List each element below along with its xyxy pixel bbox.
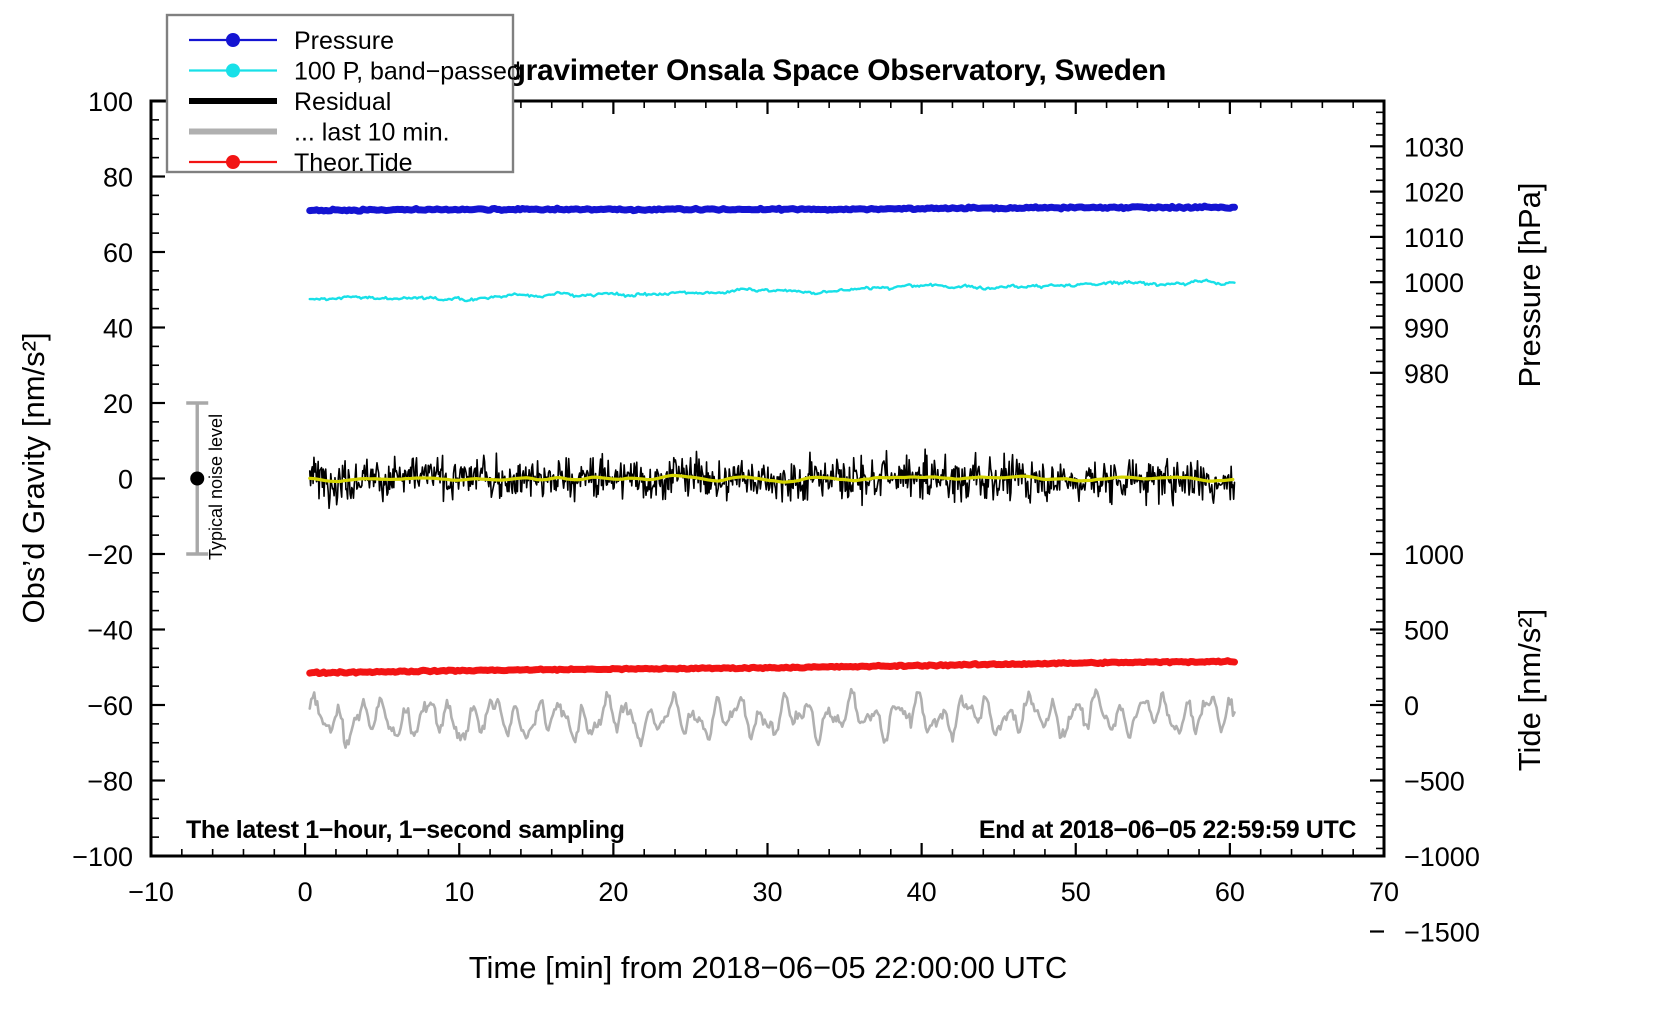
y-tick--20: −20 — [87, 540, 133, 570]
y-axis-title-left: Obs’d Gravity [nm/s²] — [16, 332, 51, 623]
x-tick--10: −10 — [128, 877, 174, 907]
x-tick-70: 70 — [1369, 877, 1399, 907]
tide-tick--1500: −1500 — [1404, 918, 1480, 948]
x-tick-0: 0 — [298, 877, 313, 907]
y-tick-80: 80 — [103, 163, 133, 193]
footer-note-left: The latest 1−hour, 1−second sampling — [186, 816, 625, 844]
x-axis-ticks: −10010203040506070 — [128, 101, 1399, 907]
y-axis-title-tide: Tide [nm/s²] — [1512, 609, 1547, 772]
pressure-tick-1030: 1030 — [1404, 132, 1464, 162]
tide-tick-500: 500 — [1404, 616, 1449, 646]
x-tick-30: 30 — [752, 877, 782, 907]
y-tick-40: 40 — [103, 314, 133, 344]
y-tick-20: 20 — [103, 389, 133, 419]
series-last-10-min — [310, 689, 1235, 748]
legend-swatch-marker — [226, 155, 240, 169]
pressure-tick-990: 990 — [1404, 314, 1449, 344]
noise-level-label: Typical noise level — [206, 414, 226, 560]
legend-swatch-marker — [226, 64, 240, 78]
tide-tick--500: −500 — [1404, 767, 1465, 797]
series-layer — [310, 206, 1235, 748]
legend-item-label: 100 P, band−passed — [294, 58, 521, 86]
x-tick-10: 10 — [444, 877, 474, 907]
noise-annotation: Typical noise level — [186, 403, 226, 560]
y-tick-60: 60 — [103, 238, 133, 268]
series-theor-tide — [310, 661, 1235, 674]
y-tick--40: −40 — [87, 616, 133, 646]
chart-canvas: −10010203040506070 100806040200−20−40−60… — [0, 0, 1660, 1020]
x-tick-50: 50 — [1061, 877, 1091, 907]
legend-item-label: Residual — [294, 88, 391, 116]
tide-tick--1000: −1000 — [1404, 842, 1480, 872]
y-tick--60: −60 — [87, 691, 133, 721]
y-tick--80: −80 — [87, 767, 133, 797]
y-tick-100: 100 — [88, 87, 133, 117]
y-tick-0: 0 — [118, 465, 133, 495]
series-pressure — [310, 206, 1235, 211]
pressure-tick-1020: 1020 — [1404, 178, 1464, 208]
x-tick-20: 20 — [598, 877, 628, 907]
tide-tick-0: 0 — [1404, 691, 1419, 721]
footer-note-right: End at 2018−06−05 22:59:59 UTC — [979, 816, 1356, 844]
gravimeter-chart: −10010203040506070 100806040200−20−40−60… — [0, 0, 1660, 1020]
tide-tick-1000: 1000 — [1404, 540, 1464, 570]
x-tick-40: 40 — [907, 877, 937, 907]
chart-legend[interactable]: Pressure100 P, band−passedResidual... la… — [167, 15, 521, 177]
legend-item-label: ... last 10 min. — [294, 119, 450, 147]
pressure-tick-980: 980 — [1404, 359, 1449, 389]
pressure-tick-1000: 1000 — [1404, 268, 1464, 298]
x-tick-60: 60 — [1215, 877, 1245, 907]
legend-item-label: Theor.Tide — [294, 149, 413, 177]
noise-bar-center-dot — [190, 472, 204, 486]
x-axis-title: Time [min] from 2018−06−05 22:00:00 UTC — [469, 950, 1068, 985]
pressure-tick-1010: 1010 — [1404, 223, 1464, 253]
y-tick--100: −100 — [72, 842, 133, 872]
y-axis-right-ticks: 103010201010100099098010005000−500−1000−… — [1370, 101, 1480, 948]
y-axis-title-pressure: Pressure [hPa] — [1512, 182, 1547, 387]
series-100-p-band-passed — [310, 280, 1235, 301]
legend-item-label: Pressure — [294, 27, 394, 55]
legend-swatch-marker — [226, 33, 240, 47]
